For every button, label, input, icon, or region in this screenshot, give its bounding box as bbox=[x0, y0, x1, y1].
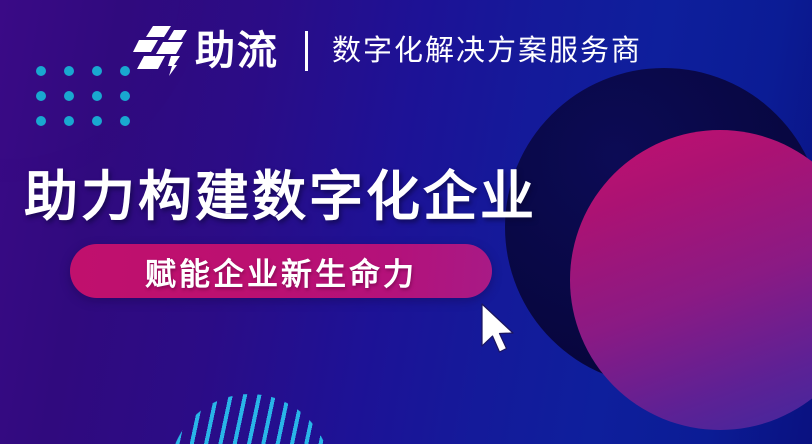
brand-header: 助流 数字化解决方案服务商 bbox=[133, 24, 642, 78]
stripe-pattern bbox=[135, 360, 365, 444]
promo-banner: 助流 数字化解决方案服务商 助力构建数字化企业 赋能企业新生命力 bbox=[0, 0, 812, 444]
grid-dot bbox=[64, 66, 74, 76]
grid-dot bbox=[92, 116, 102, 126]
grid-dot bbox=[92, 91, 102, 101]
navy-circle-decoration bbox=[505, 68, 812, 386]
dot-grid-decoration bbox=[36, 66, 130, 126]
striped-circle-decoration bbox=[135, 360, 365, 444]
grid-dot bbox=[120, 66, 130, 76]
mouse-pointer-icon bbox=[478, 302, 522, 358]
magenta-circle-decoration bbox=[570, 130, 812, 430]
grid-dot bbox=[92, 66, 102, 76]
grid-dot bbox=[120, 116, 130, 126]
cta-button[interactable]: 赋能企业新生命力 bbox=[70, 244, 492, 298]
page-title: 助力构建数字化企业 bbox=[24, 152, 537, 231]
grid-dot bbox=[120, 91, 130, 101]
grid-dot bbox=[64, 116, 74, 126]
brand-tagline: 数字化解决方案服务商 bbox=[332, 26, 642, 76]
grid-dot bbox=[36, 66, 46, 76]
zhuliu-bolt-logo-icon[interactable] bbox=[133, 26, 189, 76]
grid-dot bbox=[64, 91, 74, 101]
brand-name: 助流 bbox=[195, 26, 279, 76]
grid-dot bbox=[36, 91, 46, 101]
cta-button-label: 赋能企业新生命力 bbox=[145, 249, 417, 294]
vertical-divider bbox=[305, 31, 308, 71]
grid-dot bbox=[36, 116, 46, 126]
